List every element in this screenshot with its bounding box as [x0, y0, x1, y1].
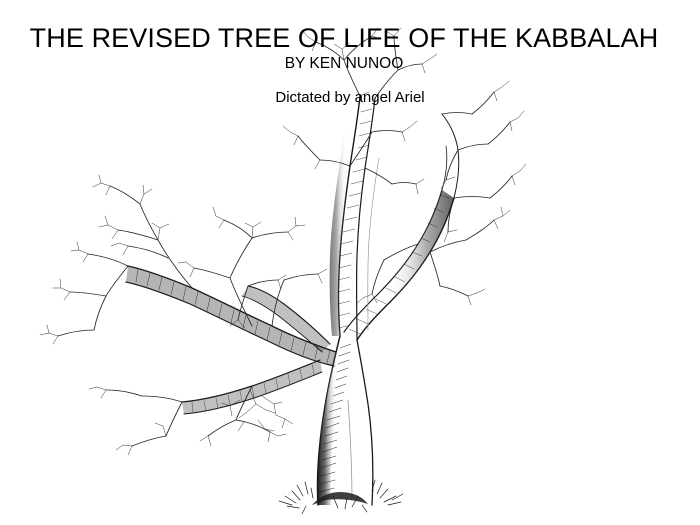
author-byline: BY KEN NUNOO: [0, 55, 688, 72]
slide-canvas: THE REVISED TREE OF LIFE OF THE KABBALAH…: [0, 0, 700, 525]
title-block: THE REVISED TREE OF LIFE OF THE KABBALAH…: [0, 0, 700, 525]
page-title: THE REVISED TREE OF LIFE OF THE KABBALAH: [0, 24, 688, 53]
dictated-by-line: Dictated by angel Ariel: [0, 90, 700, 107]
